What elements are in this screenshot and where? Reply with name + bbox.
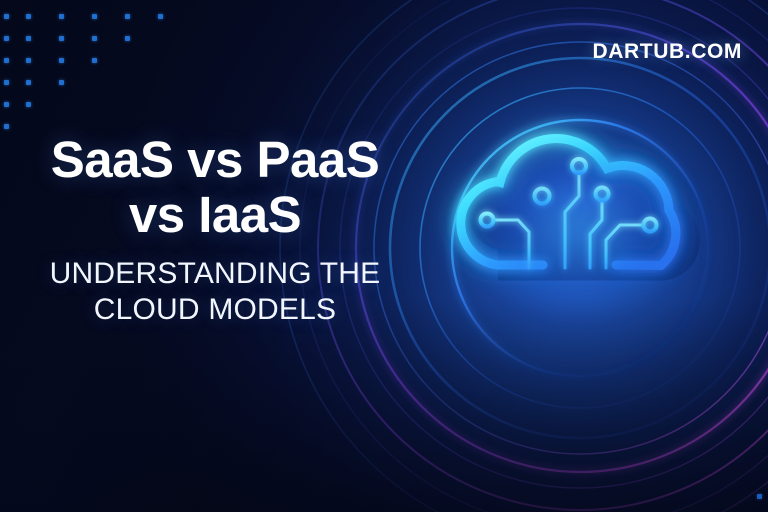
page-title: SaaS vs PaaS vs IaaS: [0, 132, 430, 242]
title-line-1: SaaS vs PaaS: [8, 132, 422, 187]
cloud-glow: [470, 140, 690, 320]
subtitle-line-1: UNDERSTANDING THE: [30, 256, 400, 291]
page-subtitle: UNDERSTANDING THE CLOUD MODELS: [0, 256, 430, 327]
title-line-2: vs IaaS: [8, 187, 422, 242]
subtitle-line-2: CLOUD MODELS: [30, 292, 400, 327]
hero-copy: SaaS vs PaaS vs IaaS UNDERSTANDING THE C…: [0, 132, 430, 327]
hero-banner: DARTUB.COM SaaS vs PaaS vs IaaS UNDERSTA…: [0, 0, 768, 512]
brand-logo[interactable]: DARTUB.COM: [593, 40, 742, 64]
cloud-artwork: [430, 100, 730, 390]
